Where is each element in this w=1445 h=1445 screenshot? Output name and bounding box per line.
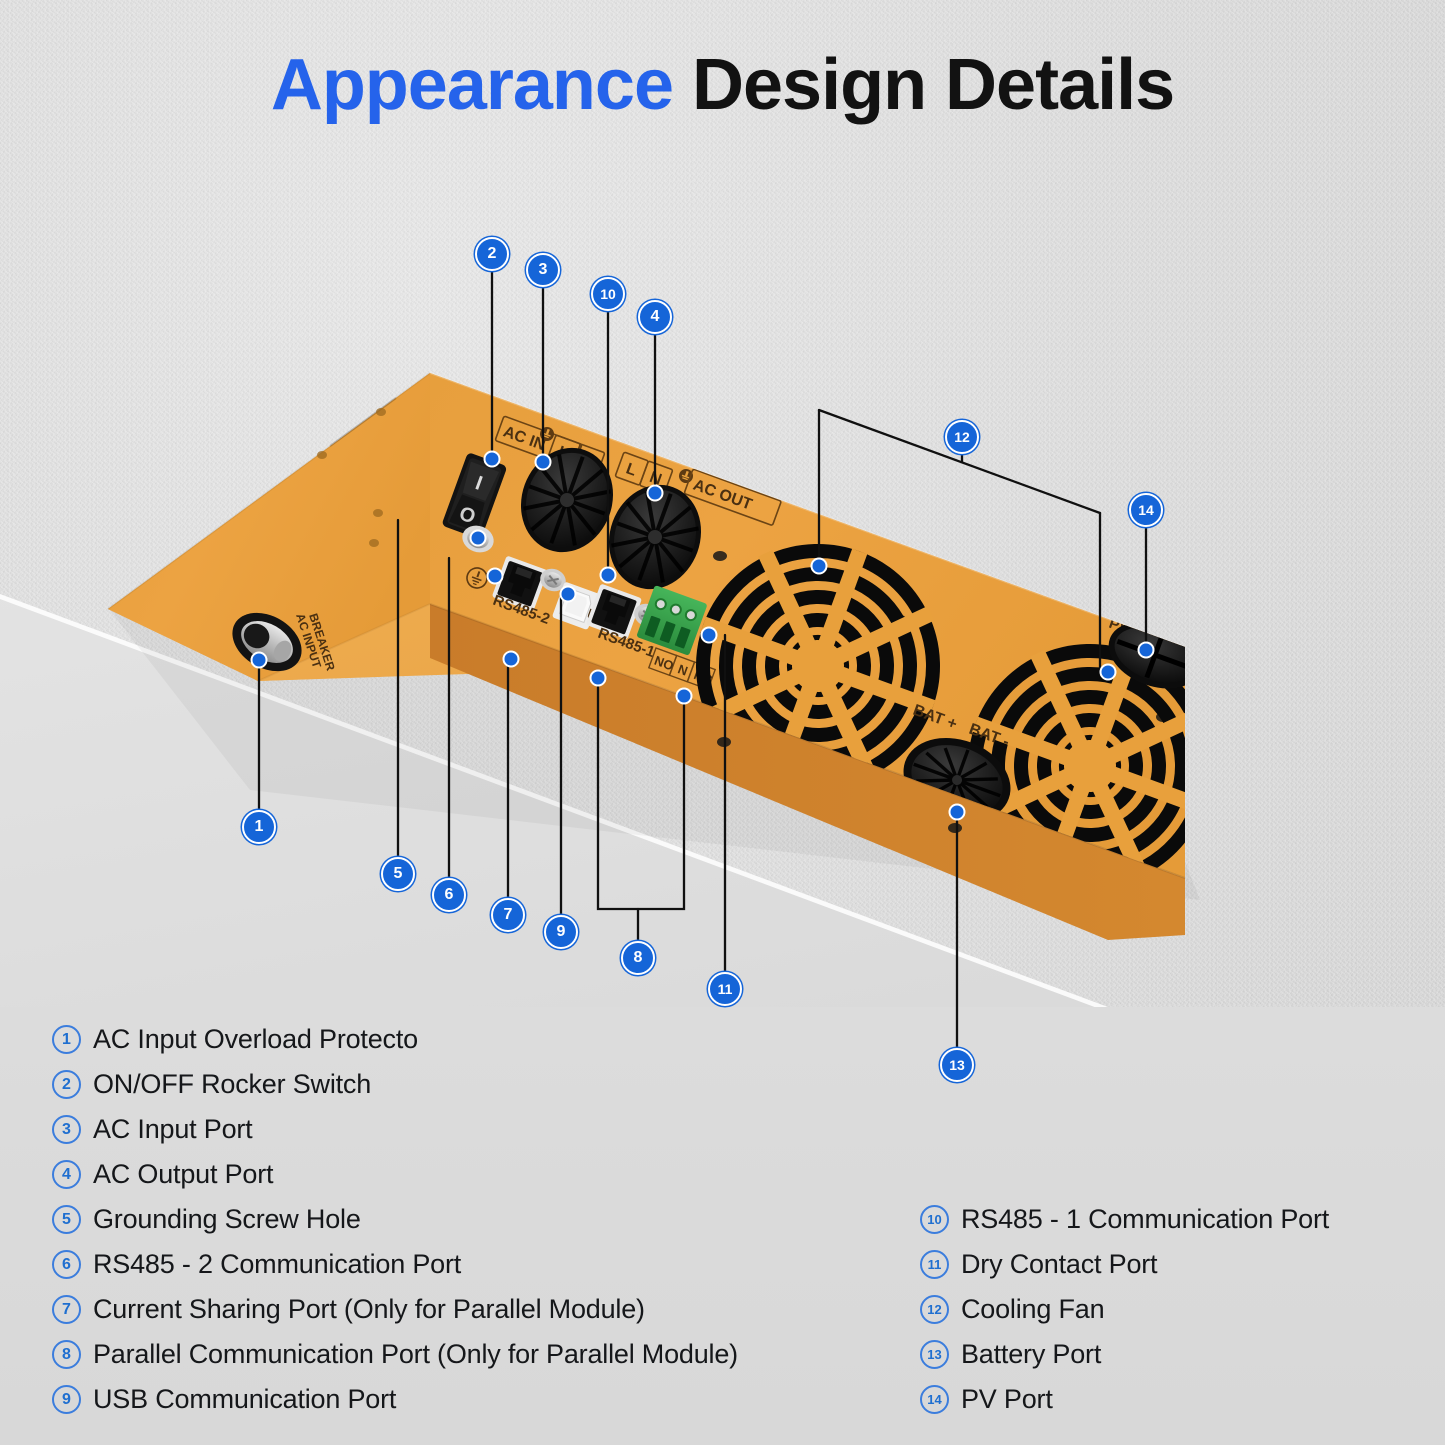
legend-item-5: 5Grounding Screw Hole	[52, 1197, 932, 1242]
legend-item-7: 7Current Sharing Port (Only for Parallel…	[52, 1287, 932, 1332]
legend-number-3: 3	[52, 1115, 81, 1144]
legend-item-12: 12Cooling Fan	[920, 1287, 1440, 1332]
legend-label-5: Grounding Screw Hole	[93, 1204, 361, 1235]
legend-item-13: 13Battery Port	[920, 1332, 1440, 1377]
legend-number-9: 9	[52, 1385, 81, 1414]
page-title-rest: Design Details	[673, 45, 1174, 125]
callout-badge-2[interactable]: 2	[475, 237, 509, 271]
legend-label-12: Cooling Fan	[961, 1294, 1104, 1325]
anchor-dot-14	[1138, 642, 1155, 659]
page-title-accent: Appearance	[271, 45, 673, 125]
anchor-dot-5	[470, 530, 487, 547]
anchor-dot-12b	[1100, 664, 1117, 681]
legend-label-14: PV Port	[961, 1384, 1053, 1415]
legend-item-11: 11Dry Contact Port	[920, 1242, 1440, 1287]
anchor-dot-11	[701, 627, 718, 644]
legend-number-2: 2	[52, 1070, 81, 1099]
legend-number-6: 6	[52, 1250, 81, 1279]
legend-item-8: 8Parallel Communication Port (Only for P…	[52, 1332, 932, 1377]
callout-badge-5[interactable]: 5	[381, 857, 415, 891]
callout-badge-11[interactable]: 11	[708, 972, 742, 1006]
legend-number-8: 8	[52, 1340, 81, 1369]
legend-label-13: Battery Port	[961, 1339, 1101, 1370]
anchor-dot-2	[484, 451, 501, 468]
legend-label-9: USB Communication Port	[93, 1384, 396, 1415]
callout-badge-14[interactable]: 14	[1129, 493, 1163, 527]
legend-item-3: 3AC Input Port	[52, 1107, 932, 1152]
legend-label-10: RS485 - 1 Communication Port	[961, 1204, 1329, 1235]
legend-item-6: 6RS485 - 2 Communication Port	[52, 1242, 932, 1287]
anchor-dot-10	[600, 567, 617, 584]
legend-number-5: 5	[52, 1205, 81, 1234]
anchor-dot-8b	[676, 688, 693, 705]
legend-item-9: 9USB Communication Port	[52, 1377, 932, 1422]
anchor-dot-1	[251, 652, 268, 669]
callout-badge-6[interactable]: 6	[432, 878, 466, 912]
legend-number-13: 13	[920, 1340, 949, 1369]
anchor-dot-7	[503, 651, 520, 668]
legend-column-right: 10RS485 - 1 Communication Port11Dry Cont…	[920, 1197, 1440, 1422]
callout-badge-3[interactable]: 3	[526, 253, 560, 287]
legend-number-11: 11	[920, 1250, 949, 1279]
anchor-dot-4	[647, 485, 664, 502]
legend-item-1: 1AC Input Overload Protecto	[52, 1017, 932, 1062]
legend-label-8: Parallel Communication Port (Only for Pa…	[93, 1339, 738, 1370]
anchor-dot-6	[487, 568, 504, 585]
callout-badge-12[interactable]: 12	[945, 420, 979, 454]
legend-column-left: 1AC Input Overload Protecto2ON/OFF Rocke…	[52, 1017, 932, 1422]
callout-badge-9[interactable]: 9	[544, 915, 578, 949]
legend-item-4: 4AC Output Port	[52, 1152, 932, 1197]
legend-number-1: 1	[52, 1025, 81, 1054]
page-title: Appearance Design Details	[0, 44, 1445, 126]
legend-number-7: 7	[52, 1295, 81, 1324]
legend-item-10: 10RS485 - 1 Communication Port	[920, 1197, 1440, 1242]
anchor-dot-12a	[811, 558, 828, 575]
legend-item-2: 2ON/OFF Rocker Switch	[52, 1062, 932, 1107]
anchor-dot-13	[949, 804, 966, 821]
legend-label-3: AC Input Port	[93, 1114, 252, 1145]
anchor-dot-9	[560, 586, 577, 603]
legend-number-10: 10	[920, 1205, 949, 1234]
anchor-dot-8a	[590, 670, 607, 687]
legend-label-7: Current Sharing Port (Only for Parallel …	[93, 1294, 645, 1325]
callout-badge-7[interactable]: 7	[491, 898, 525, 932]
legend-label-6: RS485 - 2 Communication Port	[93, 1249, 461, 1280]
callout-badge-4[interactable]: 4	[638, 300, 672, 334]
legend-number-14: 14	[920, 1385, 949, 1414]
legend-item-14: 14PV Port	[920, 1377, 1440, 1422]
legend-number-4: 4	[52, 1160, 81, 1189]
legend-number-12: 12	[920, 1295, 949, 1324]
legend-label-1: AC Input Overload Protecto	[93, 1024, 418, 1055]
legend-label-11: Dry Contact Port	[961, 1249, 1157, 1280]
legend-label-4: AC Output Port	[93, 1159, 273, 1190]
callout-badge-10[interactable]: 10	[591, 277, 625, 311]
legend: 1AC Input Overload Protecto2ON/OFF Rocke…	[0, 1007, 1445, 1445]
anchor-dot-3	[535, 454, 552, 471]
callout-badge-1[interactable]: 1	[242, 810, 276, 844]
legend-label-2: ON/OFF Rocker Switch	[93, 1069, 371, 1100]
callout-badge-8[interactable]: 8	[621, 941, 655, 975]
